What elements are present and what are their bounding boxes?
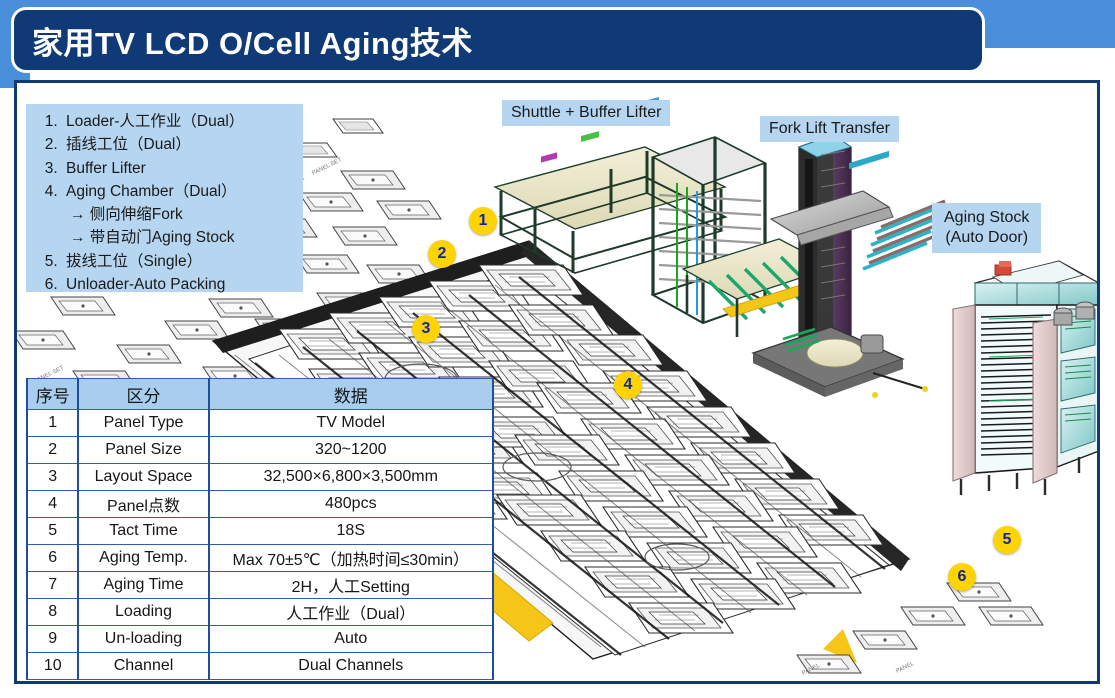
cell-value: 32,500×6,800×3,500mm xyxy=(209,464,493,491)
callout-label-aging-stock-line2: (Auto Door) xyxy=(944,228,1029,248)
cell-category: Panel点数 xyxy=(78,491,208,518)
step-marker-2[interactable]: 2 xyxy=(428,240,456,268)
cell-no: 4 xyxy=(27,491,78,518)
cell-no: 1 xyxy=(27,410,78,437)
cell-no: 6 xyxy=(27,545,78,572)
table-row: 2Panel Size320~1200 xyxy=(27,437,493,464)
cell-value: 320~1200 xyxy=(209,437,493,464)
cell-value: Auto xyxy=(209,626,493,653)
table-row: 9Un-loadingAuto xyxy=(27,626,493,653)
table-row: 4Panel点数480pcs xyxy=(27,491,493,518)
list-sub-item: → 侧向伸缩Fork xyxy=(70,203,297,226)
page-title: 家用TV LCD O/Cell Aging技术 xyxy=(32,18,473,63)
cell-no: 10 xyxy=(27,653,78,680)
list-item: Buffer Lifter xyxy=(62,157,297,180)
table-row: 1Panel TypeTV Model xyxy=(27,410,493,437)
step-marker-4[interactable]: 4 xyxy=(614,371,642,399)
cell-category: Tact Time xyxy=(78,518,208,545)
cell-category: Loading xyxy=(78,599,208,626)
callout-label-fork-lift-transfer: Fork Lift Transfer xyxy=(760,116,899,142)
cell-value: Dual Channels xyxy=(209,653,493,680)
cell-no: 2 xyxy=(27,437,78,464)
cell-category: Panel Size xyxy=(78,437,208,464)
process-step-list-ordered-continued: 拔线工位（Single） Unloader-Auto Packing xyxy=(36,250,297,297)
svg-text:PANEL SET: PANEL SET xyxy=(311,157,343,177)
cell-value: 18S xyxy=(209,518,493,545)
cell-category: Channel xyxy=(78,653,208,680)
table-row: 3Layout Space32,500×6,800×3,500mm xyxy=(27,464,493,491)
cell-no: 9 xyxy=(27,626,78,653)
step-marker-5[interactable]: 5 xyxy=(993,526,1021,554)
spec-table-head: 序号 区分 数据 xyxy=(27,379,493,410)
spec-table-header-row: 序号 区分 数据 xyxy=(27,379,493,410)
list-sub-item: → 带自动门Aging Stock xyxy=(70,226,297,249)
list-item: Aging Chamber（Dual） xyxy=(62,180,297,203)
cell-no: 5 xyxy=(27,518,78,545)
process-step-list: Loader-人工作业（Dual） 插线工位（Dual） Buffer Lift… xyxy=(26,104,303,292)
svg-text:PANEL: PANEL xyxy=(895,661,916,675)
table-row: 8Loading人工作业（Dual） xyxy=(27,599,493,626)
cell-category: Aging Temp. xyxy=(78,545,208,572)
cell-category: Un-loading xyxy=(78,626,208,653)
cell-value: TV Model xyxy=(209,410,493,437)
step-marker-6[interactable]: 6 xyxy=(948,563,976,591)
table-row: 7Aging Time2H，人工Setting xyxy=(27,572,493,599)
cell-value: 2H，人工Setting xyxy=(209,572,493,599)
cell-category: Aging Time xyxy=(78,572,208,599)
cell-no: 8 xyxy=(27,599,78,626)
list-item: Unloader-Auto Packing xyxy=(62,273,297,296)
cell-value: 480pcs xyxy=(209,491,493,518)
column-header-category: 区分 xyxy=(78,379,208,410)
cell-category: Panel Type xyxy=(78,410,208,437)
list-item: 插线工位（Dual） xyxy=(62,133,297,156)
cell-no: 7 xyxy=(27,572,78,599)
step-marker-1[interactable]: 1 xyxy=(469,207,497,235)
process-step-list-ordered: Loader-人工作业（Dual） 插线工位（Dual） Buffer Lift… xyxy=(36,110,297,203)
callout-label-aging-stock: Aging Stock (Auto Door) xyxy=(932,203,1041,253)
step-marker-3[interactable]: 3 xyxy=(412,315,440,343)
column-header-no: 序号 xyxy=(27,379,78,410)
table-row: 10ChannelDual Channels xyxy=(27,653,493,680)
spec-table: 序号 区分 数据 1Panel TypeTV Model2Panel Size3… xyxy=(26,378,494,680)
table-row: 6Aging Temp.Max 70±5℃（加热时间≤30min） xyxy=(27,545,493,572)
list-item: 拔线工位（Single） xyxy=(62,250,297,273)
callout-label-shuttle-buffer-lifter: Shuttle + Buffer Lifter xyxy=(502,100,670,126)
cell-value: 人工作业（Dual） xyxy=(209,599,493,626)
slide-root: 家用TV LCD O/Cell Aging技术 xyxy=(0,0,1115,698)
cell-no: 3 xyxy=(27,464,78,491)
spec-table-body: 1Panel TypeTV Model2Panel Size320~12003L… xyxy=(27,410,493,680)
table-row: 5Tact Time18S xyxy=(27,518,493,545)
cell-value: Max 70±5℃（加热时间≤30min） xyxy=(209,545,493,572)
cell-category: Layout Space xyxy=(78,464,208,491)
callout-label-aging-stock-line1: Aging Stock xyxy=(944,208,1029,228)
column-header-value: 数据 xyxy=(209,379,493,410)
list-item: Loader-人工作业（Dual） xyxy=(62,110,297,133)
